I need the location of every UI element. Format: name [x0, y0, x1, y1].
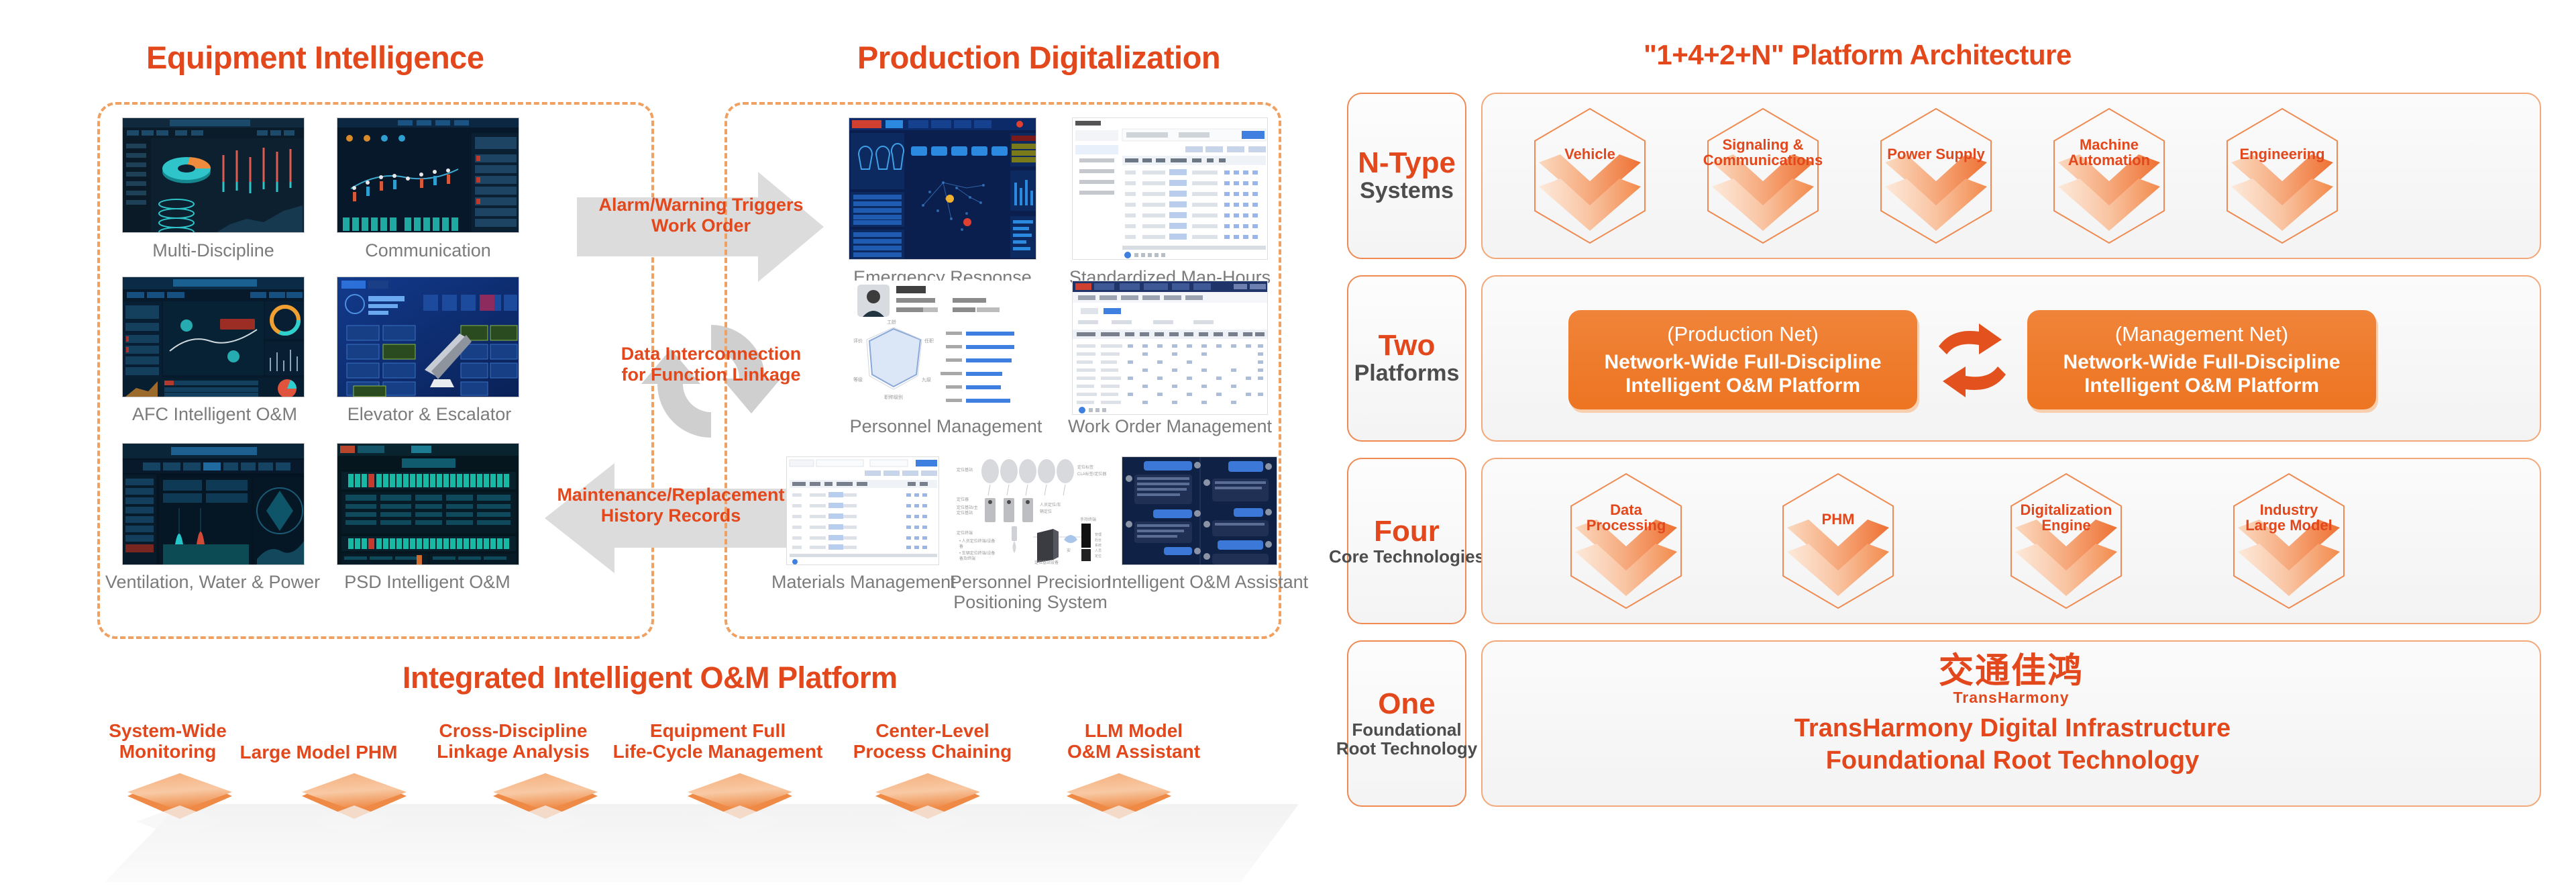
transharmony-logo: 交通佳鸿 TransHarmony: [1911, 654, 2112, 707]
hex-tile-signaling-communications[interactable]: Signaling & Communications: [1703, 105, 1823, 247]
platform-architecture-title: "1+4+2+N" Platform Architecture: [1644, 39, 2072, 71]
net-management-main: Network-Wide Full-Discipline Intelligent…: [2063, 350, 2340, 398]
row-n-type-sub: Systems: [1360, 179, 1454, 203]
thumb-ventilation[interactable]: [122, 443, 305, 565]
row-four-sub: Core Technologies: [1329, 547, 1485, 567]
capability-label-1: Large Model PHM: [221, 742, 416, 762]
caption-positioning-system: Personnel Precision Positioning System: [939, 572, 1122, 612]
alarm-arrow-line2: Work Order: [577, 215, 825, 236]
hex-tile-power-supply[interactable]: Power Supply: [1876, 105, 1996, 247]
svg-text:工龄: 工龄: [887, 319, 896, 325]
svg-text:CLA标签/定位器: CLA标签/定位器: [1077, 471, 1106, 477]
svg-text:安: 安: [1067, 548, 1071, 553]
thumb-psd[interactable]: [337, 443, 519, 565]
row-one-sub1: Foundational: [1352, 720, 1461, 740]
row-label-n-type: N-Type Systems: [1347, 93, 1466, 259]
caption-communication: Communication: [337, 240, 519, 261]
production-digitalization-title: Production Digitalization: [857, 39, 1220, 76]
thumb-multi-discipline[interactable]: [122, 117, 305, 233]
maintenance-arrow-label: Maintenance/Replacement History Records: [530, 485, 812, 526]
svg-text:定位终端: 定位终端: [957, 530, 973, 536]
svg-text:辆定位: 辆定位: [1040, 509, 1052, 514]
caption-work-order-management: Work Order Management: [1059, 416, 1281, 437]
thumb-afc[interactable]: [122, 277, 305, 397]
svg-text:职称级别: 职称级别: [884, 394, 903, 400]
capability-label-5: LLM Model O&M Assistant: [1033, 720, 1234, 762]
logo-english: TransHarmony: [1911, 689, 2112, 707]
svg-text:管理: 管理: [1095, 532, 1102, 537]
infographic-root: Equipment Intelligence: [0, 0, 2576, 886]
row-label-four: Four Core Technologies: [1347, 458, 1466, 624]
thumb-standardized-man-hours[interactable]: [1072, 117, 1268, 260]
hex-tile-digitalization-engine[interactable]: Digitalization Engine: [2006, 470, 2127, 612]
svg-text:定位基站: 定位基站: [957, 510, 973, 515]
maintenance-arrow-line1: Maintenance/Replacement: [530, 485, 812, 505]
net-card-production[interactable]: (Production Net) Network-Wide Full-Disci…: [1568, 310, 1917, 409]
hex-tile-vehicle[interactable]: Vehicle: [1529, 105, 1650, 247]
caption-om-assistant: Intelligent O&M Assistant: [1107, 572, 1293, 593]
svg-text:评价: 评价: [853, 338, 863, 344]
left-column: Equipment Intelligence: [0, 0, 1308, 886]
net-production-main: Network-Wide Full-Discipline Intelligent…: [1604, 350, 1881, 398]
foundation-tagline-line1: TransHarmony Digital Infrastructure: [1496, 713, 2529, 745]
svg-text:备及终端: 备及终端: [959, 556, 975, 561]
foundation-tagline-line2: Foundational Root Technology: [1496, 745, 2529, 777]
row-label-one: One Foundational Root Technology: [1347, 640, 1466, 807]
svg-text:• 人员定位终端/设备: • 人员定位终端/设备: [959, 538, 995, 544]
row-one-big: One: [1378, 689, 1436, 720]
caption-multi-discipline: Multi-Discipline: [122, 240, 305, 261]
row-one-sub2: Root Technology: [1336, 739, 1477, 758]
exchange-arrows-icon: [1932, 324, 2012, 397]
caption-elevator: Elevator & Escalator: [329, 404, 530, 425]
svg-text:九级: 九级: [922, 377, 931, 383]
svg-text:备: 备: [959, 544, 963, 549]
svg-text:• 车辆定位终端/设备: • 车辆定位终端/设备: [959, 550, 995, 556]
caption-psd: PSD Intelligent O&M: [330, 572, 525, 593]
thumb-om-assistant[interactable]: [1122, 456, 1277, 565]
svg-text:定位基站: 定位基站: [957, 467, 973, 473]
hex-tile-machine-automation[interactable]: Machine Automation: [2049, 105, 2169, 247]
capability-plates: [87, 773, 1268, 847]
capability-label-4: Center-Level Process Chaining: [832, 720, 1033, 762]
alarm-arrow-label: Alarm/Warning Triggers Work Order: [577, 195, 825, 236]
svg-text:人员: 人员: [1095, 549, 1102, 553]
capability-label-3: Equipment Full Life-Cycle Management: [604, 720, 832, 762]
svg-text:手持终端: 手持终端: [1080, 517, 1096, 522]
caption-ventilation: Ventilation, Water & Power: [95, 572, 330, 593]
row-two-sub: Platforms: [1354, 361, 1460, 386]
capability-label-2: Cross-Discipline Linkage Analysis: [416, 720, 610, 762]
foundation-tagline: TransHarmony Digital Infrastructure Foun…: [1496, 713, 2529, 777]
thumb-elevator[interactable]: [337, 277, 519, 397]
thumb-work-order-management[interactable]: [1072, 281, 1268, 415]
svg-text:人员定位/车: 人员定位/车: [1040, 502, 1061, 507]
net-card-management[interactable]: (Management Net) Network-Wide Full-Disci…: [2027, 310, 2376, 409]
alarm-arrow-line1: Alarm/Warning Triggers: [577, 195, 825, 215]
data-cycle-arrow-label: Data Interconnection for Function Linkag…: [563, 344, 859, 385]
svg-text:任职: 任职: [924, 338, 934, 344]
thumb-communication[interactable]: [337, 117, 519, 233]
hex-tile-data-processing[interactable]: Data Processing: [1566, 470, 1686, 612]
hex-tile-phm[interactable]: PHM: [1778, 470, 1898, 612]
thumb-emergency-response[interactable]: [849, 117, 1036, 260]
row-four-big: Four: [1374, 516, 1440, 547]
thumb-personnel-management[interactable]: 工龄任职九级 职称级别等级评价: [852, 281, 1040, 415]
caption-afc: AFC Intelligent O&M: [114, 404, 315, 425]
data-arrow-line1: Data Interconnection: [563, 344, 859, 364]
integrated-platform-title: Integrated Intelligent O&M Platform: [402, 660, 898, 695]
caption-materials-management: Materials Management: [771, 572, 954, 593]
caption-personnel-management: Personnel Management: [839, 416, 1053, 437]
row-two-big: Two: [1379, 330, 1436, 361]
svg-text:系统: 系统: [1095, 543, 1102, 548]
net-management-paren: (Management Net): [2115, 322, 2288, 346]
hex-tile-engineering[interactable]: Engineering: [2222, 105, 2343, 247]
svg-text:定位器: 定位器: [957, 497, 969, 502]
hex-tile-industry-large-model[interactable]: Industry Large Model: [2229, 470, 2349, 612]
thumb-positioning-system[interactable]: 定位基站 定位标签CLA标签/定位器 定位器定位基站/主定位基站 人员定位/车辆…: [953, 456, 1108, 565]
svg-text:定位标签: 定位标签: [1077, 464, 1093, 470]
data-arrow-line2: for Function Linkage: [563, 364, 859, 385]
row-label-two-platforms: Two Platforms: [1347, 275, 1466, 442]
logo-chinese: 交通佳鸿: [1911, 654, 2112, 689]
maintenance-arrow-line2: History Records: [530, 505, 812, 526]
net-production-paren: (Production Net): [1667, 322, 1819, 346]
equipment-intelligence-title: Equipment Intelligence: [146, 39, 484, 76]
svg-text:定位: 定位: [1095, 554, 1102, 558]
svg-text:后台: 后台: [1095, 538, 1102, 542]
svg-text:定位基站设备: 定位基站设备: [1034, 560, 1059, 565]
svg-text:定位基站/主: 定位基站/主: [957, 505, 978, 510]
right-column: "1+4+2+N" Platform Architecture N-Type S…: [1308, 0, 2576, 886]
row-n-type-big: N-Type: [1358, 148, 1456, 179]
